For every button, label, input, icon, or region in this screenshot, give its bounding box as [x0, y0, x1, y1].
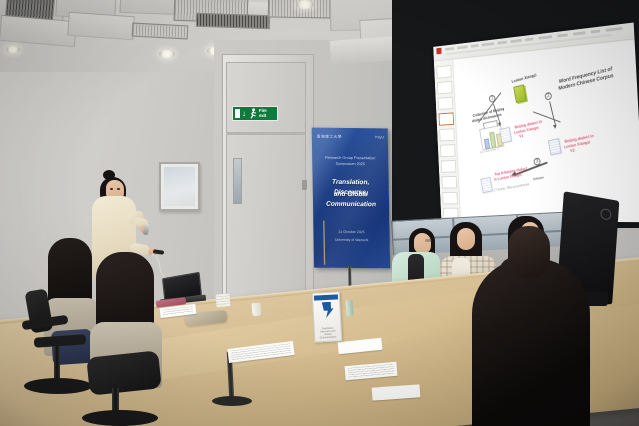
- slide-output-doc-final: [480, 177, 493, 193]
- ribbon-tab[interactable]: [457, 45, 468, 49]
- slide-output1-line3: V1: [519, 134, 524, 139]
- tent-card-header-bar: [314, 294, 338, 300]
- slide-arrow-head: [553, 125, 557, 129]
- ribbon-tab[interactable]: [497, 41, 507, 45]
- door-handle[interactable]: [302, 180, 307, 190]
- chair-post: [54, 346, 60, 382]
- slide-step-2-badge: 2: [545, 92, 552, 100]
- door-rail: [226, 132, 306, 135]
- banner-kicker-line2: Symposium 2025: [312, 162, 388, 168]
- running-man-icon: [248, 108, 257, 119]
- slide-book-label: Luotuo Xiangzi: [511, 73, 537, 84]
- ribbon-tab[interactable]: [557, 33, 568, 37]
- slide-deletion-label: Deletion: [533, 176, 545, 182]
- slide-thumbnail[interactable]: [440, 144, 455, 157]
- eyeglasses: [425, 239, 432, 242]
- fire-exit-sign: ↓ Fire exit: [232, 106, 278, 121]
- powerpoint-app-icon: [436, 48, 441, 55]
- ribbon-tab[interactable]: [573, 31, 586, 35]
- wall-mounted-whiteboard: [159, 162, 200, 211]
- office-chair-seat[interactable]: [86, 350, 162, 395]
- banner-org-left: 香港理工大學: [317, 135, 342, 140]
- stacked-paper-cups[interactable]: [215, 293, 230, 307]
- ribbon-tab[interactable]: [510, 39, 522, 43]
- slide-output2-line3: V2: [570, 148, 575, 153]
- projection-screen: Word Frequency List of Modern Chinese Co…: [433, 22, 639, 222]
- water-bottle[interactable]: [345, 300, 353, 316]
- chair-base: [82, 410, 158, 426]
- ribbon-tab[interactable]: [471, 44, 479, 48]
- slide-output-doc-v1: [499, 127, 512, 144]
- paper-coffee-cup[interactable]: [252, 303, 262, 317]
- slide-output-doc-v2: [548, 138, 562, 155]
- slide-thumbnail[interactable]: [442, 176, 457, 189]
- slide-thumbnail[interactable]: [437, 81, 452, 95]
- slide-thumbnail[interactable]: [436, 65, 451, 79]
- ribbon-tab[interactable]: [525, 38, 533, 42]
- eye: [117, 188, 120, 190]
- recessed-downlight: [296, 0, 314, 9]
- exit-sign-stripe: [235, 109, 240, 118]
- minichart-axis-labels: Dict. A Dict. B Dict. C: [480, 149, 499, 155]
- head: [414, 233, 431, 254]
- ribbon-tab[interactable]: [445, 47, 454, 51]
- ribbon-tab[interactable]: [606, 27, 623, 32]
- banner-kicker-line1: Research Group Presentation: [312, 156, 388, 162]
- head: [457, 228, 475, 250]
- paper-text-lines: [163, 306, 194, 316]
- banner-title-line2: and Global Communication: [316, 190, 386, 211]
- slide-thumbnail[interactable]: [442, 192, 458, 204]
- banner-venue: University of Warwick: [314, 238, 390, 244]
- door-vision-panel: [233, 158, 242, 204]
- chair-base: [24, 378, 92, 394]
- table-tent-card[interactable]: Translation, Discourse and Global Commun…: [312, 291, 343, 342]
- head: [508, 226, 550, 278]
- ceiling-tile: [67, 12, 135, 41]
- hvac-ceiling-vent: [196, 13, 270, 30]
- eye: [110, 188, 113, 190]
- slide-book-icon: [513, 84, 526, 103]
- whiteboard-surface: [164, 167, 195, 206]
- recessed-downlight: [6, 46, 20, 53]
- slide-thumbnail-active[interactable]: [439, 112, 454, 125]
- conference-room-photo: ↓ Fire exit: [0, 0, 639, 426]
- down-arrow-icon: ↓: [242, 110, 246, 118]
- slide-final-stats: 17 items, 356 occurrences: [493, 182, 529, 192]
- polyu-logo-icon: [319, 302, 334, 319]
- ceiling-tile: [0, 15, 77, 48]
- slide-thumbnail[interactable]: [441, 160, 456, 173]
- table-foot: [212, 396, 252, 406]
- hair: [472, 258, 590, 426]
- ribbon-tab[interactable]: [538, 35, 552, 39]
- recessed-downlight: [159, 50, 175, 58]
- monitor-brand-logo-icon: [600, 208, 612, 221]
- banner-org-right: PolyU: [375, 135, 384, 139]
- slide-canvas: Word Frequency List of Modern Chinese Co…: [454, 40, 639, 222]
- symposium-banner: 香港理工大學 PolyU Research Group Presentation…: [312, 128, 390, 269]
- slide-thumbnail[interactable]: [438, 97, 453, 110]
- minichart-bar: [484, 138, 490, 149]
- slide-thumbnail[interactable]: [439, 128, 454, 141]
- roll-up-banner-stand: 香港理工大學 PolyU Research Group Presentation…: [312, 127, 391, 276]
- minichart-bracket: [483, 120, 498, 129]
- tent-card-caption: Translation, Discourse and Global Commun…: [317, 326, 340, 340]
- slide-arrow-line: [549, 101, 556, 125]
- fire-exit-label-line2: exit: [259, 114, 267, 119]
- pagoda-tower-icon: [319, 221, 329, 265]
- hvac-ceiling-vent: [132, 23, 189, 40]
- banner-date: 21 October 2025: [313, 230, 389, 236]
- banner-title-line1: Translation, Discourse,: [316, 178, 386, 199]
- ribbon-tab[interactable]: [591, 30, 600, 34]
- ribbon-tab[interactable]: [482, 42, 495, 46]
- paper-text-lines: [348, 364, 395, 378]
